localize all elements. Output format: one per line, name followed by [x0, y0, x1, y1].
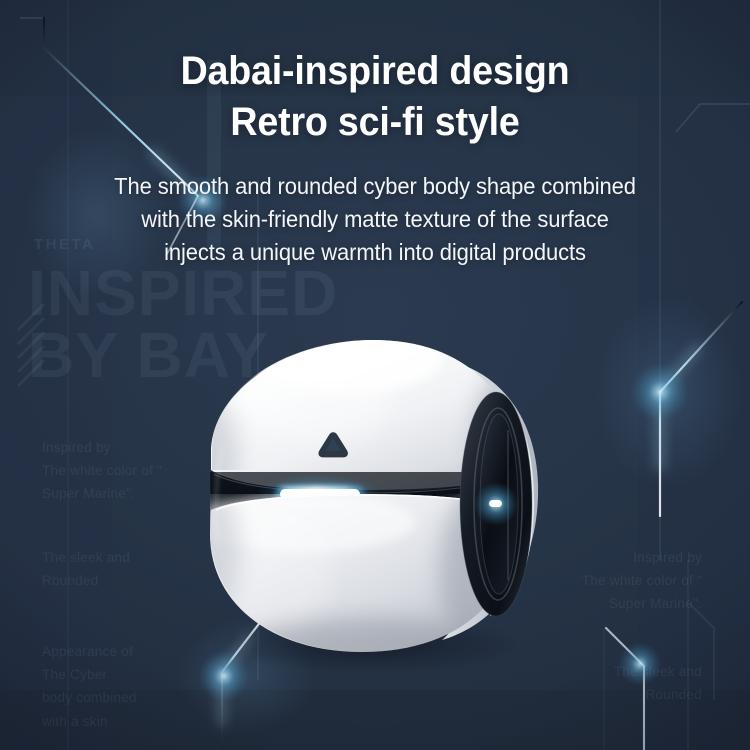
product-feature-slide: THETA INSPIRED BY BAY Inspired by The wh…: [0, 0, 750, 750]
headline-line-2: Retro sci-fi style: [23, 97, 728, 148]
spec-note-left-2: The sleek and Rounded: [42, 546, 130, 592]
spec-note-left-1: Inspired by The white color of " Super M…: [42, 436, 162, 506]
headline-line-1: Dabai-inspired design: [23, 46, 728, 97]
spec-note-right-2: The sleek and Rounded: [614, 660, 702, 706]
subcopy-line-3: injects a unique warmth into digital pro…: [17, 236, 733, 269]
spec-note-right-1: Inspired by The white color of " Super M…: [582, 546, 702, 616]
watermark-line-1: INSPIRED: [28, 262, 338, 325]
subcopy-line-2: with the skin-friendly matte texture of …: [17, 203, 733, 236]
subcopy-line-1: The smooth and rounded cyber body shape …: [17, 170, 733, 203]
copy-block: Dabai-inspired design Retro sci-fi style…: [0, 46, 750, 268]
product-image-cyber-earbuds-case: [196, 334, 556, 660]
page-subtitle: The smooth and rounded cyber body shape …: [17, 170, 733, 268]
page-title: Dabai-inspired design Retro sci-fi style: [23, 46, 728, 148]
spec-note-left-3: Appearance of The Cyber body combined wi…: [42, 640, 137, 733]
